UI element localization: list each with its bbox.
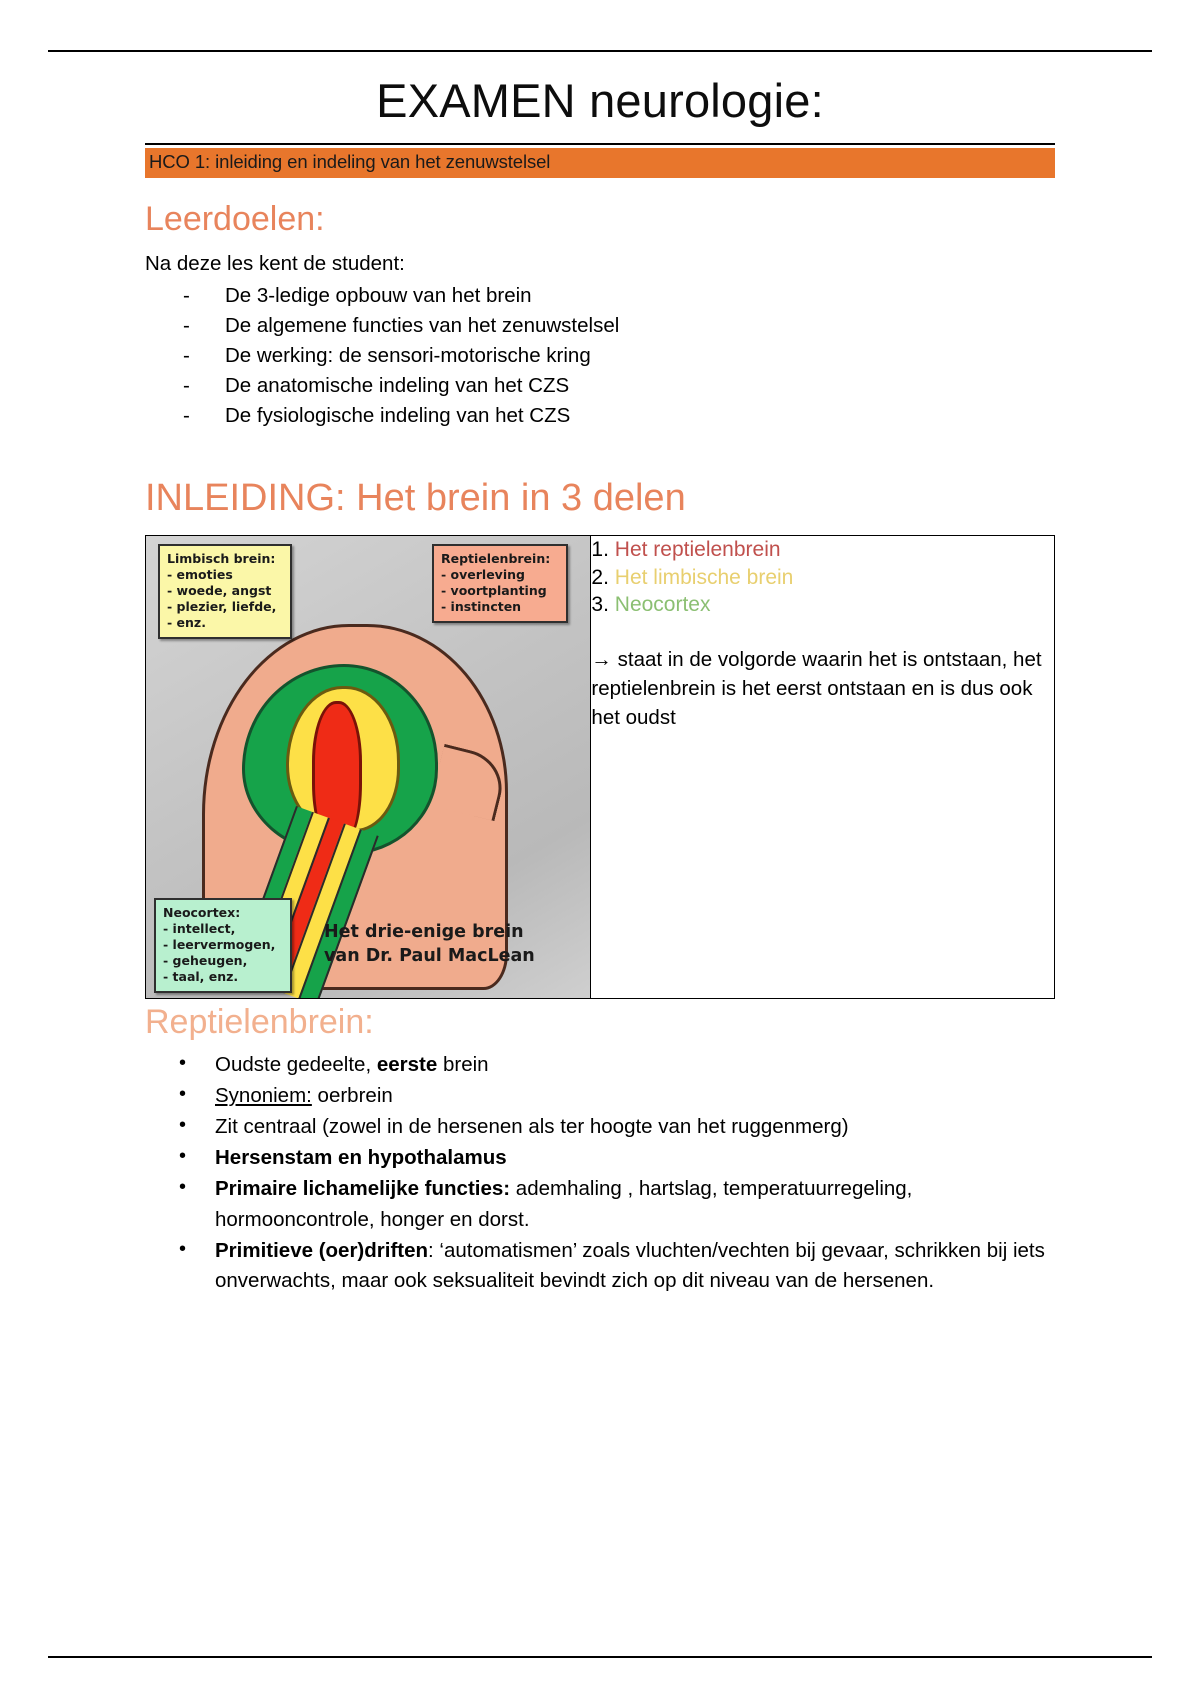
callout-line: - overleving [441, 567, 559, 583]
leerdoelen-list: De 3-ledige opbouw van het brein De alge… [145, 281, 1055, 432]
callout-line: - enz. [167, 615, 283, 631]
item-underline: Synoniem: [215, 1084, 312, 1107]
figure-caption: Het drie-enige brein van Dr. Paul MacLea… [324, 920, 535, 968]
list-item: De algemene functies van het zenuwstelse… [183, 311, 1055, 341]
callout-limbisch-brein: Limbisch brein: - emoties - woede, angst… [158, 544, 292, 639]
title-underline [145, 143, 1055, 145]
list-item: 2. Het limbische brein [591, 564, 1054, 592]
item-bold: eerste [377, 1053, 437, 1076]
heading-reptielenbrein: Reptielenbrein: [145, 1003, 1055, 1042]
callout-line: - instincten [441, 599, 559, 615]
item-bold: Primaire lichamelijke functies: [215, 1177, 510, 1200]
document-page: EXAMEN neurologie: HCO 1: inleiding en i… [0, 0, 1200, 1700]
callout-reptielenbrein: Reptielenbrein: - overleving - voortplan… [432, 544, 568, 623]
callout-line: - leervermogen, [163, 937, 283, 953]
item-bold: Primitieve (oer)driften [215, 1239, 428, 1262]
brain-diagram: Limbisch brein: - emoties - woede, angst… [146, 536, 590, 998]
callout-line: - emoties [167, 567, 283, 583]
item-bold: Hersenstam en hypothalamus [215, 1146, 507, 1169]
list-item: De werking: de sensori-motorische kring [183, 341, 1055, 371]
bottom-rule [48, 1656, 1152, 1658]
arrow-paragraph: → staat in de volgorde waarin het is ont… [591, 645, 1054, 732]
list-item: 1. Het reptielenbrein [591, 536, 1054, 564]
figure-table: Limbisch brein: - emoties - woede, angst… [145, 535, 1055, 999]
callout-line: - taal, enz. [163, 969, 283, 985]
list-item: De 3-ledige opbouw van het brein [183, 281, 1055, 311]
callout-line: - woede, angst [167, 583, 283, 599]
list-label: Neocortex [615, 593, 711, 616]
list-index: 1. [591, 538, 609, 561]
list-item: Primitieve (oer)driften: ‘automatismen’ … [177, 1236, 1055, 1296]
list-item: De fysiologische indeling van het CZS [183, 401, 1055, 431]
heading-inleiding: INLEIDING: Het brein in 3 delen [145, 477, 1055, 521]
callout-title: Limbisch brein: [167, 551, 283, 567]
list-label: Het reptielenbrein [615, 538, 781, 561]
caption-line: van Dr. Paul MacLean [324, 944, 535, 968]
list-item: Oudste gedeelte, eerste brein [177, 1050, 1055, 1080]
item-tail: brein [437, 1053, 488, 1076]
heading-leerdoelen: Leerdoelen: [145, 200, 1055, 239]
page-title: EXAMEN neurologie: [145, 0, 1055, 127]
brain-parts-list: 1. Het reptielenbrein 2. Het limbische b… [591, 536, 1054, 619]
callout-line: - voortplanting [441, 583, 559, 599]
list-index: 3. [591, 593, 609, 616]
callout-line: - intellect, [163, 921, 283, 937]
caption-line: Het drie-enige brein [324, 920, 535, 944]
list-item: Hersenstam en hypothalamus [177, 1143, 1055, 1173]
list-item: De anatomische indeling van het CZS [183, 371, 1055, 401]
callout-neocortex: Neocortex: - intellect, - leervermogen, … [154, 898, 292, 993]
item-lead: Oudste gedeelte, [215, 1053, 377, 1076]
list-label: Het limbische brein [615, 566, 794, 589]
callout-title: Neocortex: [163, 905, 283, 921]
callout-line: - plezier, liefde, [167, 599, 283, 615]
figure-cell: Limbisch brein: - emoties - woede, angst… [146, 535, 591, 998]
list-item: Primaire lichamelijke functies: ademhali… [177, 1174, 1055, 1234]
list-index: 2. [591, 566, 609, 589]
list-item: Zit centraal (zowel in de hersenen als t… [177, 1112, 1055, 1142]
item-plain: Zit centraal (zowel in de hersenen als t… [215, 1115, 849, 1138]
list-item: Synoniem: oerbrein [177, 1081, 1055, 1111]
callout-title: Reptielenbrein: [441, 551, 559, 567]
figure-text-cell: 1. Het reptielenbrein 2. Het limbische b… [591, 535, 1055, 998]
top-rule [48, 50, 1152, 52]
list-item: 3. Neocortex [591, 591, 1054, 619]
leerdoelen-intro: Na deze les kent de student: [145, 249, 1055, 279]
callout-line: - geheugen, [163, 953, 283, 969]
section-bar: HCO 1: inleiding en indeling van het zen… [145, 148, 1055, 178]
reptielenbrein-list: Oudste gedeelte, eerste brein Synoniem: … [145, 1050, 1055, 1296]
item-tail: oerbrein [312, 1084, 393, 1107]
